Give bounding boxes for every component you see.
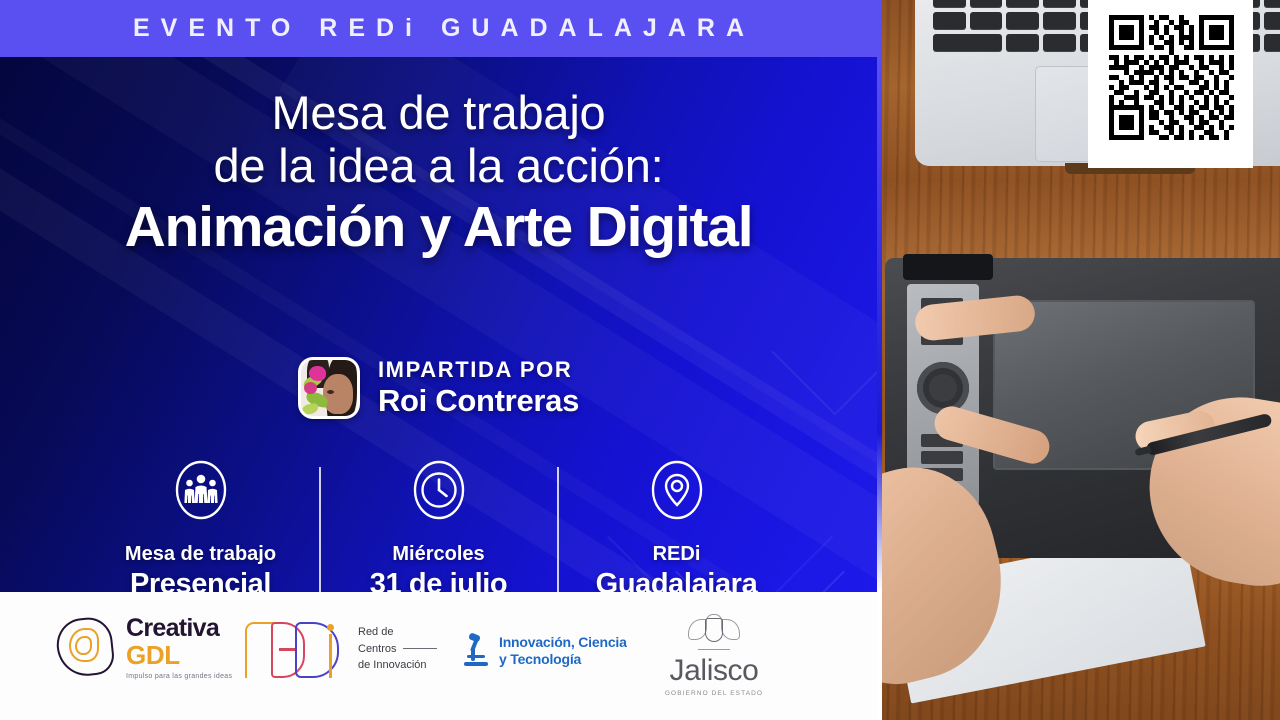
- logo-creativa-gdl: Creativa GDL Impulso para las grandes id…: [55, 616, 232, 680]
- jalisco-crest-icon: [688, 614, 740, 654]
- avatar: [298, 357, 360, 419]
- detail-date: Miércoles 31 de julio 17:00-18:30 h: [321, 459, 557, 592]
- event-poster: EVENTO REDi GUADALAJARA Mesa de trabajo …: [0, 0, 1280, 720]
- speaker-name: Roi Contreras: [378, 382, 579, 419]
- detail-date-main: 31 de julio: [370, 567, 507, 592]
- drawing-tablet-photo: [877, 0, 1280, 720]
- jalisco-name: Jalisco: [655, 656, 773, 686]
- ict-line-2: y Tecnología: [499, 651, 627, 668]
- speaker-label: IMPARTIDA POR: [378, 357, 579, 382]
- detail-location-main: Guadalajara: [596, 567, 758, 592]
- redi-mark-icon: [243, 618, 348, 680]
- redi-line-1: Red de: [358, 624, 437, 641]
- speaker-block: IMPARTIDA POR Roi Contreras: [0, 357, 877, 419]
- photo-left-edge: [877, 0, 882, 720]
- detail-location: REDi Guadalajara: [559, 459, 795, 592]
- tablet-touch-ring: [917, 362, 969, 414]
- title-line-2: de la idea a la acción:: [0, 140, 877, 193]
- people-group-icon: [174, 459, 228, 521]
- qr-code-panel[interactable]: [1088, 0, 1253, 168]
- detail-modality-main: Presencial: [130, 567, 271, 592]
- page-title: Mesa de trabajo de la idea a la acción: …: [0, 87, 877, 260]
- microscope-icon: [462, 634, 490, 668]
- poster-left-panel: EVENTO REDi GUADALAJARA Mesa de trabajo …: [0, 0, 877, 720]
- detail-location-sub: REDi: [653, 543, 701, 567]
- redi-line-2: Centros: [358, 643, 397, 655]
- redi-line-3: de Innovación: [358, 657, 437, 674]
- logo-jalisco: Jalisco GOBIERNO DEL ESTADO: [655, 614, 773, 697]
- creativa-ear-icon: [55, 616, 117, 680]
- logo-redi: Red de Centros de Innovación: [243, 618, 437, 680]
- creativa-line-1: Creativa: [126, 616, 232, 641]
- detail-date-sub: Miércoles: [392, 543, 484, 567]
- ict-line-1: Innovación, Ciencia: [499, 634, 627, 651]
- event-details-row: Mesa de trabajo Presencial Miércoles: [0, 459, 877, 592]
- jalisco-subtitle: GOBIERNO DEL ESTADO: [655, 690, 773, 697]
- detail-modality-sub: Mesa de trabajo: [125, 543, 276, 567]
- creativa-line-2: GDL: [126, 642, 232, 668]
- location-pin-icon: [650, 459, 704, 521]
- event-header-text: EVENTO REDi GUADALAJARA: [122, 14, 755, 43]
- detail-modality: Mesa de trabajo Presencial: [83, 459, 319, 592]
- poster-body-background: Mesa de trabajo de la idea a la acción: …: [0, 57, 877, 592]
- qr-code[interactable]: [1109, 15, 1234, 140]
- title-line-3: Animación y Arte Digital: [0, 196, 877, 260]
- logo-footer-bar: Creativa GDL Impulso para las grandes id…: [0, 592, 877, 720]
- clock-icon: [412, 459, 466, 521]
- logo-innovacion-ciencia-tecnologia: Innovación, Ciencia y Tecnología: [462, 634, 627, 668]
- event-header-bar: EVENTO REDi GUADALAJARA: [0, 0, 877, 57]
- creativa-tagline: Impulso para las grandes ideas: [126, 673, 232, 680]
- title-line-1: Mesa de trabajo: [0, 87, 877, 140]
